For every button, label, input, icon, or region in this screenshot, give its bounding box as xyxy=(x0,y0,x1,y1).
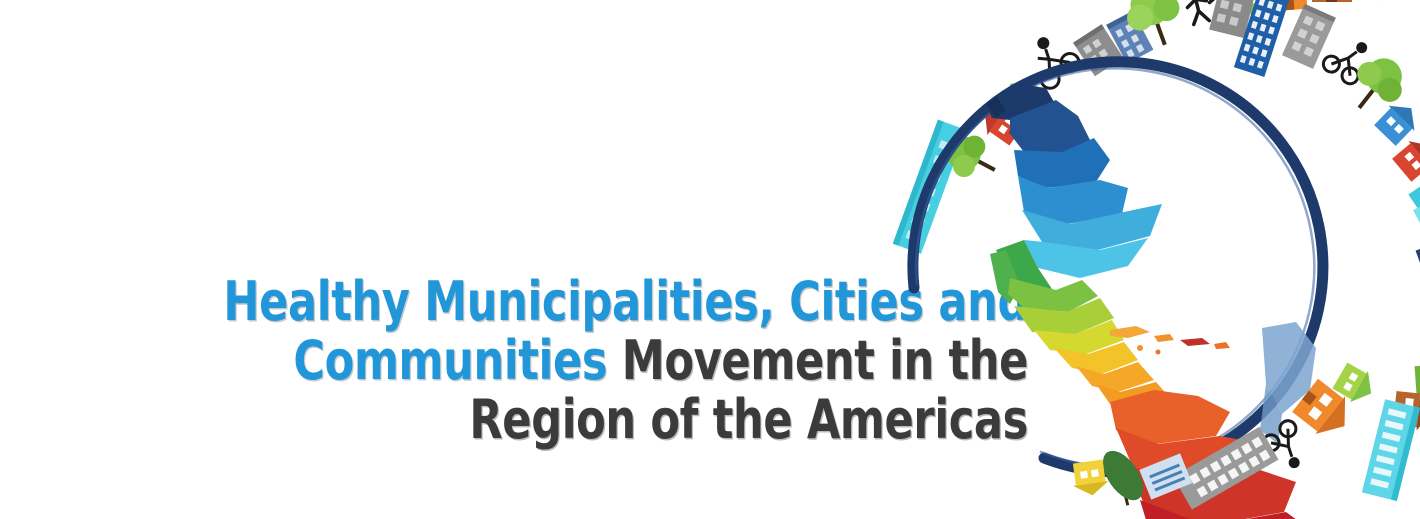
gray-office-block-icon xyxy=(1282,4,1336,69)
cyan-low-building-icon xyxy=(1413,194,1420,286)
runner-figure-icon xyxy=(1182,0,1211,25)
banner-root: Healthy Municipalities, Cities and Commu… xyxy=(0,0,1420,519)
navy-solar-building-icon xyxy=(1416,236,1420,352)
title-line-2-blue-text: Communities xyxy=(293,329,607,392)
americas-globe-logo xyxy=(810,0,1420,519)
brown-house-icon xyxy=(1308,0,1356,2)
logo-svg xyxy=(810,0,1420,519)
cyan-low-building-icon xyxy=(1362,399,1420,501)
green-tree-icon xyxy=(1353,0,1414,3)
blue-house-icon xyxy=(1372,96,1420,148)
